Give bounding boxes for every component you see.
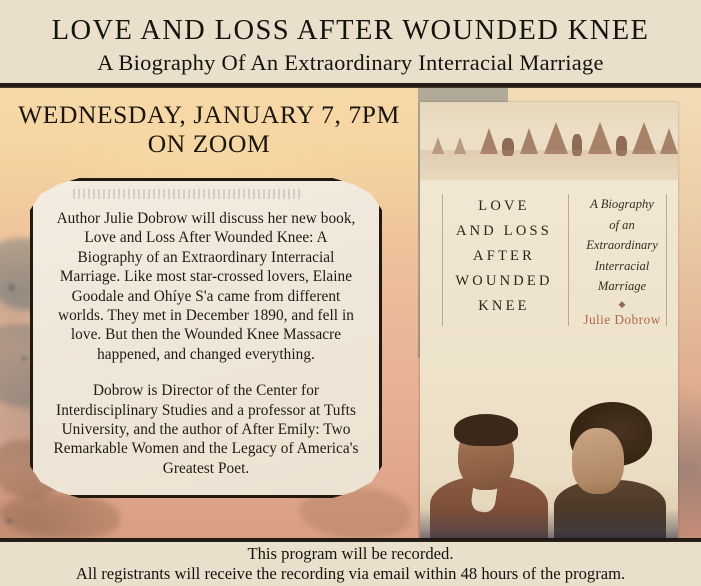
paper-stain: [0, 494, 120, 538]
couple-portrait-photo: [420, 350, 678, 538]
cover-subtitle-line: Extraordinary: [576, 235, 668, 256]
encampment-photo: [420, 102, 678, 180]
description-panel: Author Julie Dobrow will discuss her new…: [30, 178, 382, 498]
cover-title-line: AFTER: [438, 244, 570, 269]
paper-speck: [22, 356, 27, 361]
cover-author-name: Julie Dobrow: [576, 311, 668, 329]
event-flyer: LOVE AND LOSS AFTER WOUNDED KNEE A Biogr…: [0, 0, 701, 586]
cover-title-line: AND LOSS: [438, 219, 570, 244]
cover-subtitle-line: of an: [576, 215, 668, 236]
page-title: LOVE AND LOSS AFTER WOUNDED KNEE: [0, 0, 701, 45]
event-platform: ON ZOOM: [0, 129, 418, 159]
cover-title-line: WOUNDED: [438, 269, 570, 294]
flyer-footer: This program will be recorded. All regis…: [0, 538, 701, 586]
event-date: WEDNESDAY, JANUARY 7, 7PM: [0, 100, 418, 129]
paper-speck: [6, 518, 12, 524]
description-paragraph-1: Author Julie Dobrow will discuss her new…: [51, 209, 361, 364]
portrait-man-hair: [454, 414, 518, 446]
cover-title-line: LOVE: [438, 194, 570, 219]
portrait-woman-head: [572, 428, 624, 494]
page-subtitle: A Biography Of An Extraordinary Interrac…: [0, 45, 701, 75]
cover-title-line: KNEE: [438, 294, 570, 319]
cover-subtitle-line: Interracial: [576, 256, 668, 277]
recording-notice-line-1: This program will be recorded.: [0, 544, 701, 564]
cover-title-column: LOVE AND LOSS AFTER WOUNDED KNEE: [438, 194, 570, 319]
flyer-body: LOVE AND LOSS AFTER WOUNDED KNEE A Biogr…: [0, 88, 701, 538]
event-datetime: WEDNESDAY, JANUARY 7, 7PM ON ZOOM: [0, 100, 418, 159]
cover-subtitle-line: Marriage: [576, 276, 668, 297]
cover-subtitle-column: A Biography of an Extraordinary Interrac…: [576, 194, 668, 329]
book-cover-image: LOVE AND LOSS AFTER WOUNDED KNEE A Biogr…: [420, 102, 678, 538]
diamond-ornament-icon: ◆: [576, 297, 668, 311]
cover-subtitle-line: A Biography: [576, 194, 668, 215]
faded-handwriting-texture: [73, 189, 303, 199]
portrait-edge-fade: [420, 508, 678, 538]
description-paragraph-2: Dobrow is Director of the Center for Int…: [51, 381, 361, 478]
paper-speck: [8, 284, 15, 291]
flyer-header: LOVE AND LOSS AFTER WOUNDED KNEE A Biogr…: [0, 0, 701, 88]
recording-notice-line-2: All registrants will receive the recordi…: [0, 564, 701, 584]
